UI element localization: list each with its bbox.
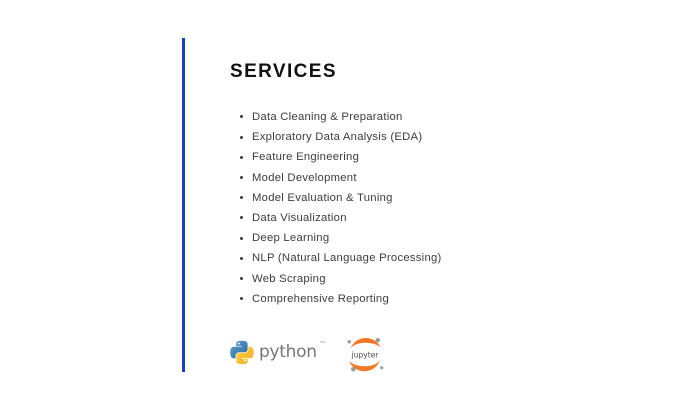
list-item-label: Deep Learning	[252, 232, 329, 244]
python-snake-icon	[230, 340, 254, 364]
list-item: Deep Learning	[240, 228, 620, 248]
list-item-label: Model Evaluation & Tuning	[252, 192, 393, 204]
list-item: Exploratory Data Analysis (EDA)	[240, 127, 620, 147]
accent-bar	[182, 38, 185, 372]
bullet-icon	[240, 196, 243, 199]
bullet-icon	[240, 277, 243, 280]
jupyter-wordmark-text: jupyter	[351, 351, 380, 360]
list-item: Comprehensive Reporting	[240, 289, 620, 309]
list-item: Web Scraping	[240, 269, 620, 289]
bullet-icon	[240, 257, 243, 260]
bullet-icon	[240, 176, 243, 179]
jupyter-mark-icon: jupyter	[342, 336, 388, 374]
trademark-icon: ™	[319, 341, 326, 348]
list-item-label: Data Cleaning & Preparation	[252, 111, 403, 123]
page-title: SERVICES	[230, 62, 630, 81]
bullet-icon	[240, 216, 243, 219]
list-item: Model Development	[240, 168, 620, 188]
list-item-label: Data Visualization	[252, 212, 347, 224]
list-item: Model Evaluation & Tuning	[240, 188, 620, 208]
list-item: NLP (Natural Language Processing)	[240, 248, 620, 268]
list-item-label: Model Development	[252, 172, 357, 184]
bullet-icon	[240, 115, 243, 118]
bullet-icon	[240, 237, 243, 240]
jupyter-logo: jupyter	[342, 336, 388, 374]
list-item: Feature Engineering	[240, 147, 620, 167]
list-item: Data Visualization	[240, 208, 620, 228]
services-list: Data Cleaning & Preparation Exploratory …	[240, 107, 620, 309]
list-item-label: Comprehensive Reporting	[252, 293, 389, 305]
python-logo: python ™	[230, 340, 317, 364]
python-wordmark: python ™	[259, 340, 317, 364]
list-item-label: Web Scraping	[252, 273, 326, 285]
list-item-label: Feature Engineering	[252, 151, 359, 163]
list-item: Data Cleaning & Preparation	[240, 107, 620, 127]
bullet-icon	[240, 297, 243, 300]
bullet-icon	[240, 156, 243, 159]
python-wordmark-text: python	[259, 342, 317, 362]
content-column: SERVICES Data Cleaning & Preparation Exp…	[230, 62, 630, 81]
list-item-label: Exploratory Data Analysis (EDA)	[252, 131, 422, 143]
slide-canvas: SERVICES Data Cleaning & Preparation Exp…	[0, 0, 680, 409]
list-item-label: NLP (Natural Language Processing)	[252, 252, 442, 264]
bullet-icon	[240, 136, 243, 139]
